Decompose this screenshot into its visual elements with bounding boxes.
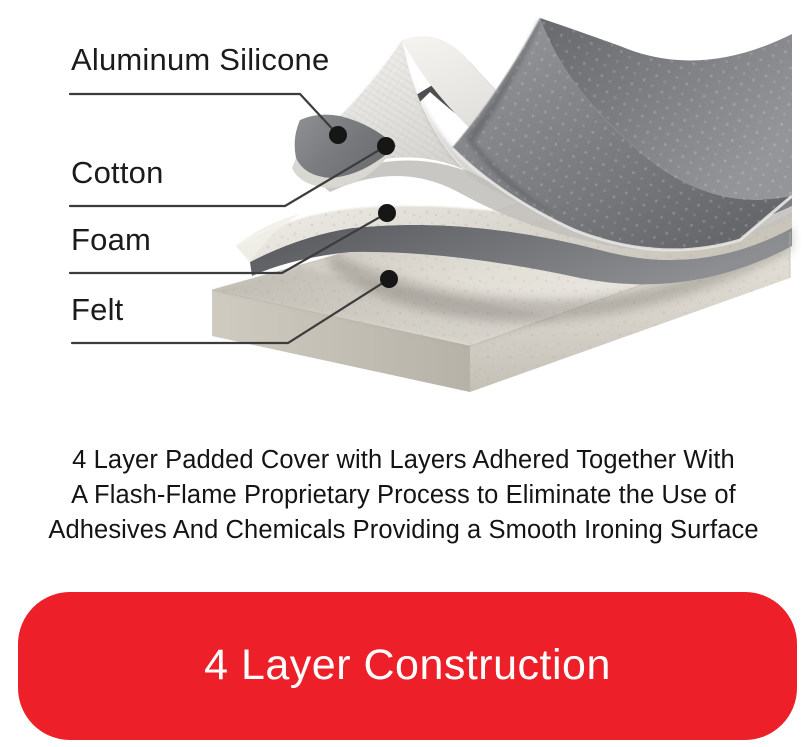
callout-dot-felt <box>380 270 398 288</box>
callout-label-foam: Foam <box>71 224 151 255</box>
product-description: 4 Layer Padded Cover with Layers Adhered… <box>0 443 807 548</box>
callout-label-cotton: Cotton <box>71 157 164 188</box>
product-infographic: Aluminum Silicone Cotton Foam Felt 4 Lay… <box>0 0 807 747</box>
callout-label-felt: Felt <box>71 294 123 325</box>
description-line-2: A Flash-Flame Proprietary Process to Eli… <box>0 478 807 513</box>
callout-dot-foam <box>378 204 396 222</box>
layer-diagram: Aluminum Silicone Cotton Foam Felt <box>0 0 807 430</box>
construction-banner: 4 Layer Construction <box>18 592 797 740</box>
callout-dot-aluminum-silicone <box>329 126 347 144</box>
callout-label-aluminum-silicone: Aluminum Silicone <box>71 44 329 75</box>
description-line-3: Adhesives And Chemicals Providing a Smoo… <box>0 513 807 548</box>
callout-dot-cotton <box>377 137 395 155</box>
description-line-1: 4 Layer Padded Cover with Layers Adhered… <box>0 443 807 478</box>
construction-banner-label: 4 Layer Construction <box>204 644 611 689</box>
